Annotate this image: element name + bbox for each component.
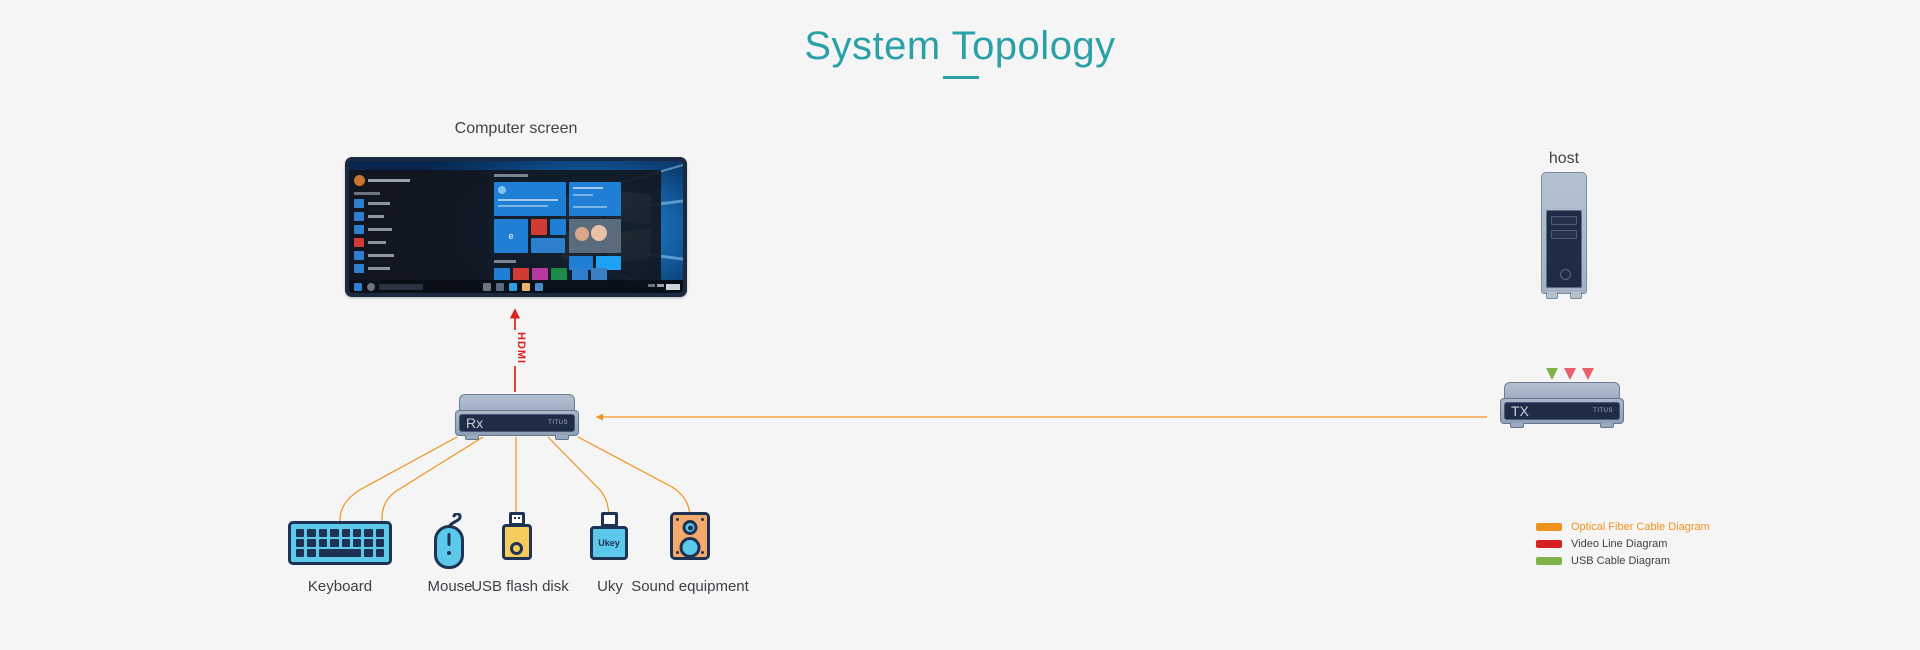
key (319, 529, 327, 537)
speaker-screw (701, 518, 704, 521)
legend-item-video-line: Video Line Diagram (1536, 536, 1736, 551)
legend-item-usb-cable: USB Cable Diagram (1536, 553, 1736, 568)
power-button-icon[interactable] (1560, 269, 1571, 280)
host-front-panel (1546, 210, 1582, 288)
key (364, 549, 372, 557)
app-label (368, 267, 390, 270)
start-menu-item[interactable] (354, 251, 394, 260)
host-computer-tower[interactable] (1541, 172, 1587, 300)
tray-icon (657, 284, 664, 287)
peripheral-sound-equipment[interactable] (670, 512, 710, 560)
edge-taskbar-icon[interactable] (509, 283, 517, 291)
store-icon[interactable] (535, 283, 543, 291)
key (296, 539, 304, 547)
start-button[interactable] (354, 283, 362, 291)
system-tray[interactable] (648, 284, 680, 290)
legend-label-usb-cable: USB Cable Diagram (1571, 555, 1670, 567)
app-label (368, 215, 384, 218)
speaker-woofer (680, 537, 701, 558)
mouse-icon (434, 525, 464, 569)
legend-label-optical-fiber: Optical Fiber Cable Diagram (1571, 521, 1710, 533)
start-menu-item[interactable] (354, 199, 390, 208)
app-icon (354, 212, 364, 221)
key (376, 539, 384, 547)
key (307, 549, 315, 557)
legend-label-video-line: Video Line Diagram (1571, 538, 1667, 550)
key (296, 529, 304, 537)
avatar (354, 175, 365, 186)
tile-weather[interactable] (569, 182, 621, 216)
key (342, 539, 350, 547)
transmitter-device-tx[interactable]: TX TITUS (1500, 382, 1624, 424)
cortana-icon[interactable] (367, 283, 375, 291)
key (319, 539, 327, 547)
tray-icon (648, 284, 655, 287)
tile-people[interactable] (531, 238, 565, 253)
start-menu-tiles[interactable]: e (488, 170, 661, 280)
peripheral-label-usb-flash-disk: USB flash disk (455, 578, 585, 595)
tile-mail[interactable] (531, 219, 547, 235)
usb-pin (518, 517, 520, 519)
start-menu-item[interactable] (354, 238, 386, 247)
key-space (319, 549, 361, 557)
host-label: host (1504, 150, 1624, 168)
start-menu-item[interactable] (354, 212, 384, 221)
key (364, 539, 372, 547)
user-name-placeholder (368, 179, 410, 182)
key (353, 539, 361, 547)
peripheral-ukey[interactable]: Ukey (590, 512, 630, 564)
legend-swatch-usb-cable (1536, 557, 1562, 565)
device-foot-right (1600, 423, 1614, 428)
key (364, 529, 372, 537)
ukey-badge-text: Ukey (598, 538, 620, 548)
device-body: Rx TITUS (455, 410, 579, 436)
speaker-icon (670, 512, 710, 560)
peripheral-mouse[interactable] (425, 513, 475, 569)
app-icon (354, 251, 364, 260)
key (353, 529, 361, 537)
photo-face (591, 225, 607, 241)
tile-icon (498, 186, 506, 194)
tile-store[interactable] (550, 219, 566, 235)
device-foot-right (555, 435, 569, 440)
host-drive-bay-1 (1551, 216, 1577, 225)
mouse-dot (447, 551, 451, 555)
key (296, 549, 304, 557)
peripheral-usb-flash-disk[interactable] (498, 512, 538, 564)
task-view-icon[interactable] (483, 283, 491, 291)
peripheral-label-sound-equipment: Sound equipment (620, 578, 760, 595)
mouse-button (448, 533, 451, 546)
keyboard-icon (288, 521, 392, 565)
keyboard-row (296, 529, 384, 537)
tile-text (573, 194, 593, 196)
monitor-label: Computer screen (380, 120, 652, 138)
tile-text (498, 205, 548, 207)
device-faceplate: TX TITUS (1504, 402, 1620, 420)
speaker-tweeter (683, 520, 698, 535)
usb-hole (510, 542, 523, 555)
legend-swatch-optical-fiber (1536, 523, 1562, 531)
device-brand-rx: TITUS (548, 420, 568, 426)
tile-news[interactable] (494, 182, 566, 216)
device-body: TX TITUS (1500, 398, 1624, 424)
app-label (368, 241, 386, 244)
tile-group-header (494, 174, 528, 177)
key (330, 539, 338, 547)
peripheral-label-keyboard: Keyboard (280, 578, 400, 595)
start-menu-item[interactable] (354, 264, 390, 273)
tile-text (573, 206, 607, 208)
start-menu[interactable] (349, 170, 488, 280)
topology-diagram: System Topology (0, 0, 1920, 650)
app-icon (354, 238, 364, 247)
speaker-screw (676, 518, 679, 521)
tile-text (498, 199, 558, 201)
edge-icon: e (494, 219, 528, 253)
host-drive-bay-2 (1551, 230, 1577, 239)
taskbar-search-input[interactable] (379, 284, 423, 290)
start-menu-user[interactable] (354, 175, 410, 186)
app-label (368, 228, 392, 231)
app-icon (354, 264, 364, 273)
device-foot-left (1510, 423, 1524, 428)
speaker-screw (701, 551, 704, 554)
device-faceplate: Rx TITUS (459, 414, 575, 432)
legend: Optical Fiber Cable Diagram Video Line D… (1536, 519, 1736, 570)
device-name-tx: TX (1511, 404, 1529, 418)
key (342, 529, 350, 537)
app-label (368, 202, 390, 205)
start-menu-item[interactable] (354, 225, 392, 234)
app-label (368, 254, 394, 257)
usb-pin (514, 517, 516, 519)
key (307, 539, 315, 547)
device-foot-left (465, 435, 479, 440)
ukey-connector-icon (601, 512, 618, 527)
key (330, 529, 338, 537)
keyboard-row (296, 539, 384, 547)
monitor-screen: e (349, 161, 683, 293)
computer-monitor: e (345, 157, 687, 297)
tile-edge[interactable]: e (494, 219, 528, 253)
receiver-device-rx[interactable]: Rx TITUS (455, 394, 579, 436)
taskbar[interactable] (349, 280, 683, 293)
app-icon (354, 199, 364, 208)
tile-text (573, 187, 603, 189)
file-explorer-icon[interactable] (522, 283, 530, 291)
tile-group-header (494, 260, 516, 263)
speaker-screw (676, 551, 679, 554)
keyboard-row (296, 549, 384, 557)
legend-swatch-video-line (1536, 540, 1562, 548)
tile-photos[interactable] (569, 219, 621, 253)
host-foot-right (1570, 292, 1582, 299)
clock (666, 284, 680, 290)
ukey-icon: Ukey (590, 526, 628, 560)
start-menu-section-header (354, 192, 380, 195)
device-name-rx: Rx (466, 416, 483, 430)
photo-face (575, 227, 589, 241)
key (307, 529, 315, 537)
key (376, 549, 384, 557)
key (376, 529, 384, 537)
host-foot-left (1546, 292, 1558, 299)
app-icon[interactable] (496, 283, 504, 291)
app-icon (354, 225, 364, 234)
hdmi-label: HDMI (503, 330, 527, 366)
device-brand-tx: TITUS (1593, 408, 1613, 414)
peripheral-keyboard[interactable] (288, 521, 392, 565)
legend-item-optical-fiber: Optical Fiber Cable Diagram (1536, 519, 1736, 534)
